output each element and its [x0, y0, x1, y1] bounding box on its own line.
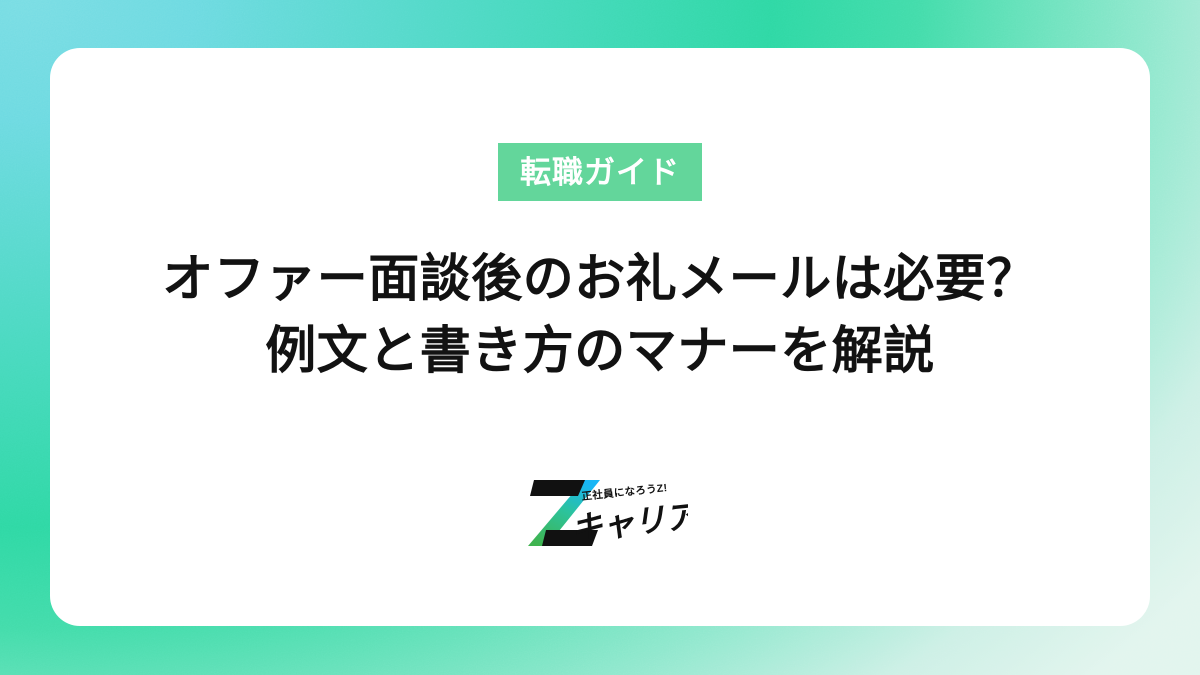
page-title: オファー面談後のお礼メールは必要？ 例文と書き方のマナーを解説 — [162, 243, 1038, 388]
page-title-line-1: オファー面談後のお礼メールは必要？ — [162, 243, 1038, 315]
content-card: 転職ガイド オファー面談後のお礼メールは必要？ 例文と書き方のマナーを解説 — [50, 48, 1150, 626]
slide-canvas: 転職ガイド オファー面談後のお礼メールは必要？ 例文と書き方のマナーを解説 — [0, 0, 1200, 675]
category-badge: 転職ガイド — [498, 143, 702, 201]
z-career-logo: 正社員になろうZ! キャリア — [512, 474, 688, 552]
logo-wordmark: キャリア — [569, 497, 688, 546]
page-title-line-2: 例文と書き方のマナーを解説 — [162, 315, 1038, 387]
